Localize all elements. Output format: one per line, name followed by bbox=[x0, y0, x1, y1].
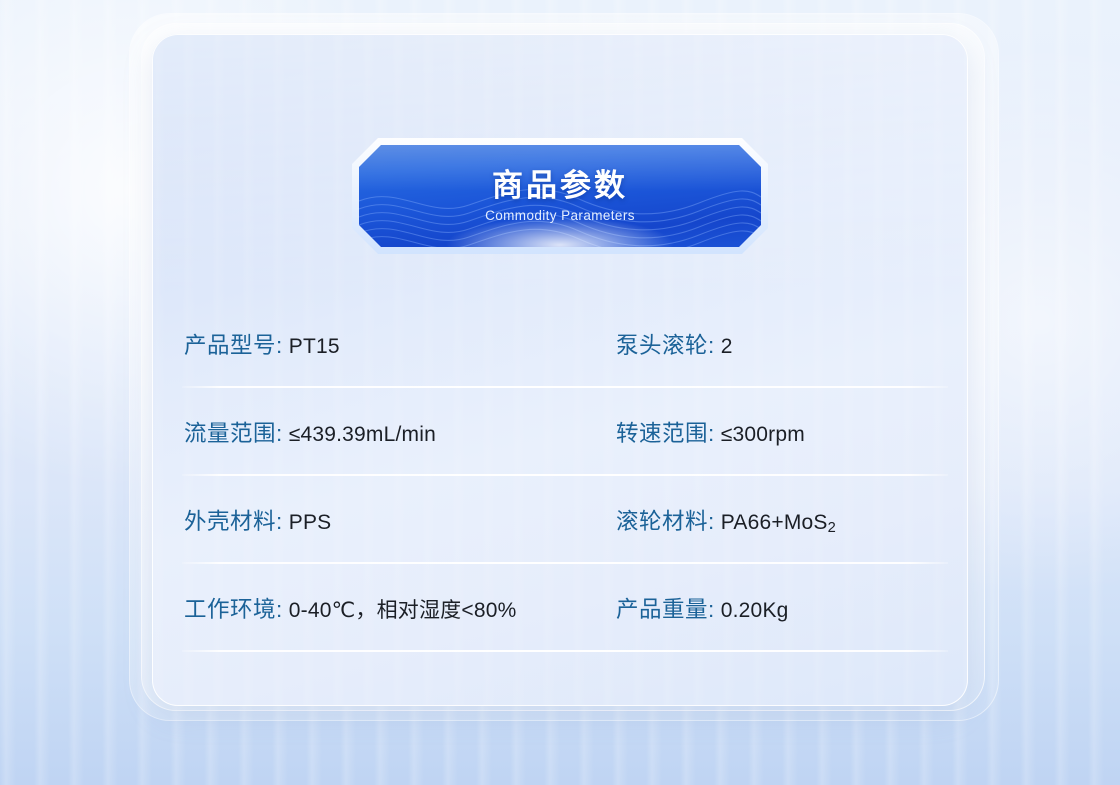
banner-body: 商品参数 Commodity Parameters bbox=[359, 145, 761, 247]
table-row: 工作环境: 0-40℃，相对湿度<80% 产品重量: 0.20Kg bbox=[182, 564, 948, 652]
param-label: 流量范围: bbox=[184, 416, 283, 448]
param-label: 外壳材料: bbox=[184, 504, 283, 536]
param-value: 0.20Kg bbox=[721, 599, 789, 623]
param-cell-roller-material: 滚轮材料: PA66+MoS2 bbox=[616, 504, 948, 536]
table-row: 产品型号: PT15 泵头滚轮: 2 bbox=[182, 300, 948, 388]
param-label: 转速范围: bbox=[616, 416, 715, 448]
banner-title-en: Commodity Parameters bbox=[485, 208, 635, 223]
param-label: 产品重量: bbox=[616, 592, 715, 624]
section-title-banner: 商品参数 Commodity Parameters bbox=[352, 138, 768, 254]
param-value-main: PA66+MoS bbox=[721, 511, 828, 534]
parameters-card: 商品参数 Commodity Parameters 产品型号: PT15 泵头滚… bbox=[152, 34, 968, 706]
row-divider bbox=[182, 650, 948, 652]
param-value: ≤439.39mL/min bbox=[289, 423, 436, 447]
param-cell-pump-head-rollers: 泵头滚轮: 2 bbox=[616, 328, 948, 360]
param-cell-shell-material: 外壳材料: PPS bbox=[182, 504, 616, 536]
table-row: 外壳材料: PPS 滚轮材料: PA66+MoS2 bbox=[182, 476, 948, 564]
param-cell-product-weight: 产品重量: 0.20Kg bbox=[616, 592, 948, 624]
param-label: 滚轮材料: bbox=[616, 504, 715, 536]
param-label: 工作环境: bbox=[184, 592, 283, 624]
param-value: 2 bbox=[721, 335, 733, 359]
param-value: PT15 bbox=[289, 335, 340, 359]
param-value: 0-40℃，相对湿度<80% bbox=[289, 594, 517, 624]
param-value-subscript: 2 bbox=[828, 520, 836, 536]
param-cell-working-environment: 工作环境: 0-40℃，相对湿度<80% bbox=[182, 592, 616, 624]
param-value: ≤300rpm bbox=[721, 423, 805, 447]
table-row: 流量范围: ≤439.39mL/min 转速范围: ≤300rpm bbox=[182, 388, 948, 476]
banner-title-cn: 商品参数 bbox=[492, 169, 628, 204]
param-label: 泵头滚轮: bbox=[616, 328, 715, 360]
param-cell-flow-range: 流量范围: ≤439.39mL/min bbox=[182, 416, 616, 448]
banner-text-group: 商品参数 Commodity Parameters bbox=[359, 145, 761, 247]
param-cell-speed-range: 转速范围: ≤300rpm bbox=[616, 416, 948, 448]
parameters-table: 产品型号: PT15 泵头滚轮: 2 流量范围: ≤439.39mL/min 转… bbox=[182, 300, 948, 652]
param-label: 产品型号: bbox=[184, 328, 283, 360]
param-value: PA66+MoS2 bbox=[721, 511, 836, 535]
product-parameters-page: 商品参数 Commodity Parameters 产品型号: PT15 泵头滚… bbox=[0, 0, 1120, 785]
param-cell-product-model: 产品型号: PT15 bbox=[182, 328, 616, 360]
param-value: PPS bbox=[289, 511, 332, 535]
